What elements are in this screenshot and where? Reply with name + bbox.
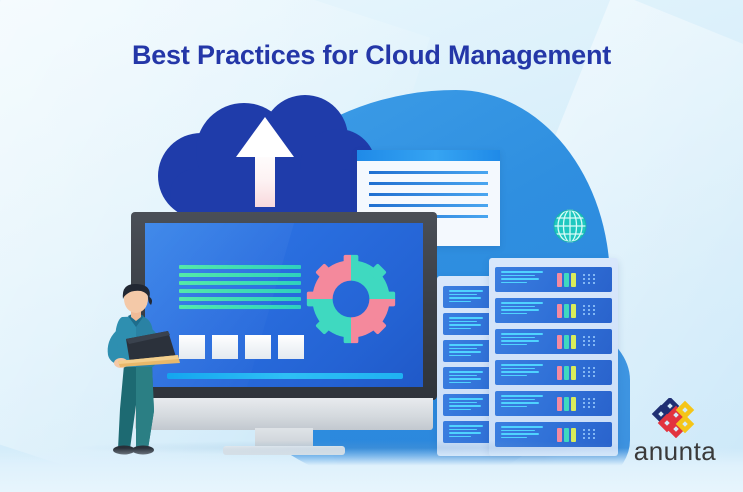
screen-progress-bar <box>167 373 403 379</box>
cloud-upload-icon <box>158 95 373 195</box>
server-dot-grid <box>583 305 596 315</box>
server-unit <box>495 329 612 354</box>
person-with-laptop <box>96 283 186 455</box>
document-line <box>369 204 488 207</box>
server-dot-grid <box>583 398 596 408</box>
poster-canvas: Best Practices for Cloud Management <box>0 0 743 492</box>
server-text-lines <box>449 425 483 439</box>
server-dot-grid <box>583 429 596 439</box>
document-titlebar <box>357 150 500 161</box>
arrow-head <box>236 117 294 157</box>
server-text-lines <box>449 398 483 412</box>
document-line <box>369 193 488 196</box>
screen-text-line <box>179 305 301 309</box>
server-text-lines <box>449 344 483 358</box>
globe-icon <box>552 208 588 244</box>
server-dot-grid <box>583 336 596 346</box>
server-unit <box>495 298 612 323</box>
server-text-lines <box>501 395 543 409</box>
server-text-lines <box>449 290 483 304</box>
server-leds <box>557 304 576 318</box>
server-leds <box>557 366 576 380</box>
server-unit <box>495 267 612 292</box>
server-text-lines <box>501 271 543 285</box>
screen-text-lines <box>179 265 301 313</box>
server-text-lines <box>449 371 483 385</box>
screen-text-line <box>179 289 301 293</box>
screen-text-line <box>179 265 301 269</box>
server-text-lines <box>501 333 543 347</box>
screen-tiles <box>179 335 304 359</box>
server-leds <box>557 397 576 411</box>
monitor-screen <box>145 223 423 387</box>
server-dot-grid <box>583 367 596 377</box>
screen-tile <box>212 335 238 359</box>
server-unit <box>495 391 612 416</box>
page-title: Best Practices for Cloud Management <box>0 40 743 71</box>
server-text-lines <box>449 317 483 331</box>
screen-text-line <box>179 297 301 301</box>
arrow-stem <box>255 149 275 207</box>
brand-wordmark: anunta <box>620 436 730 467</box>
server-leds <box>557 273 576 287</box>
server-unit <box>495 360 612 385</box>
server-text-lines <box>501 364 543 378</box>
anunta-knot-mark-icon <box>648 398 696 438</box>
screen-tile <box>245 335 271 359</box>
settings-gear-icon <box>305 253 397 345</box>
upload-arrow-icon <box>236 117 294 207</box>
screen-text-line <box>179 273 301 277</box>
server-leds <box>557 335 576 349</box>
brand-logo[interactable]: anunta <box>620 398 730 474</box>
screen-text-line <box>179 281 301 285</box>
server-dot-grid <box>583 274 596 284</box>
server-rack-front <box>489 258 618 456</box>
server-leds <box>557 428 576 442</box>
document-line <box>369 182 488 185</box>
document-line <box>369 171 488 174</box>
screen-tile <box>278 335 304 359</box>
server-text-lines <box>501 426 543 440</box>
server-text-lines <box>501 302 543 316</box>
